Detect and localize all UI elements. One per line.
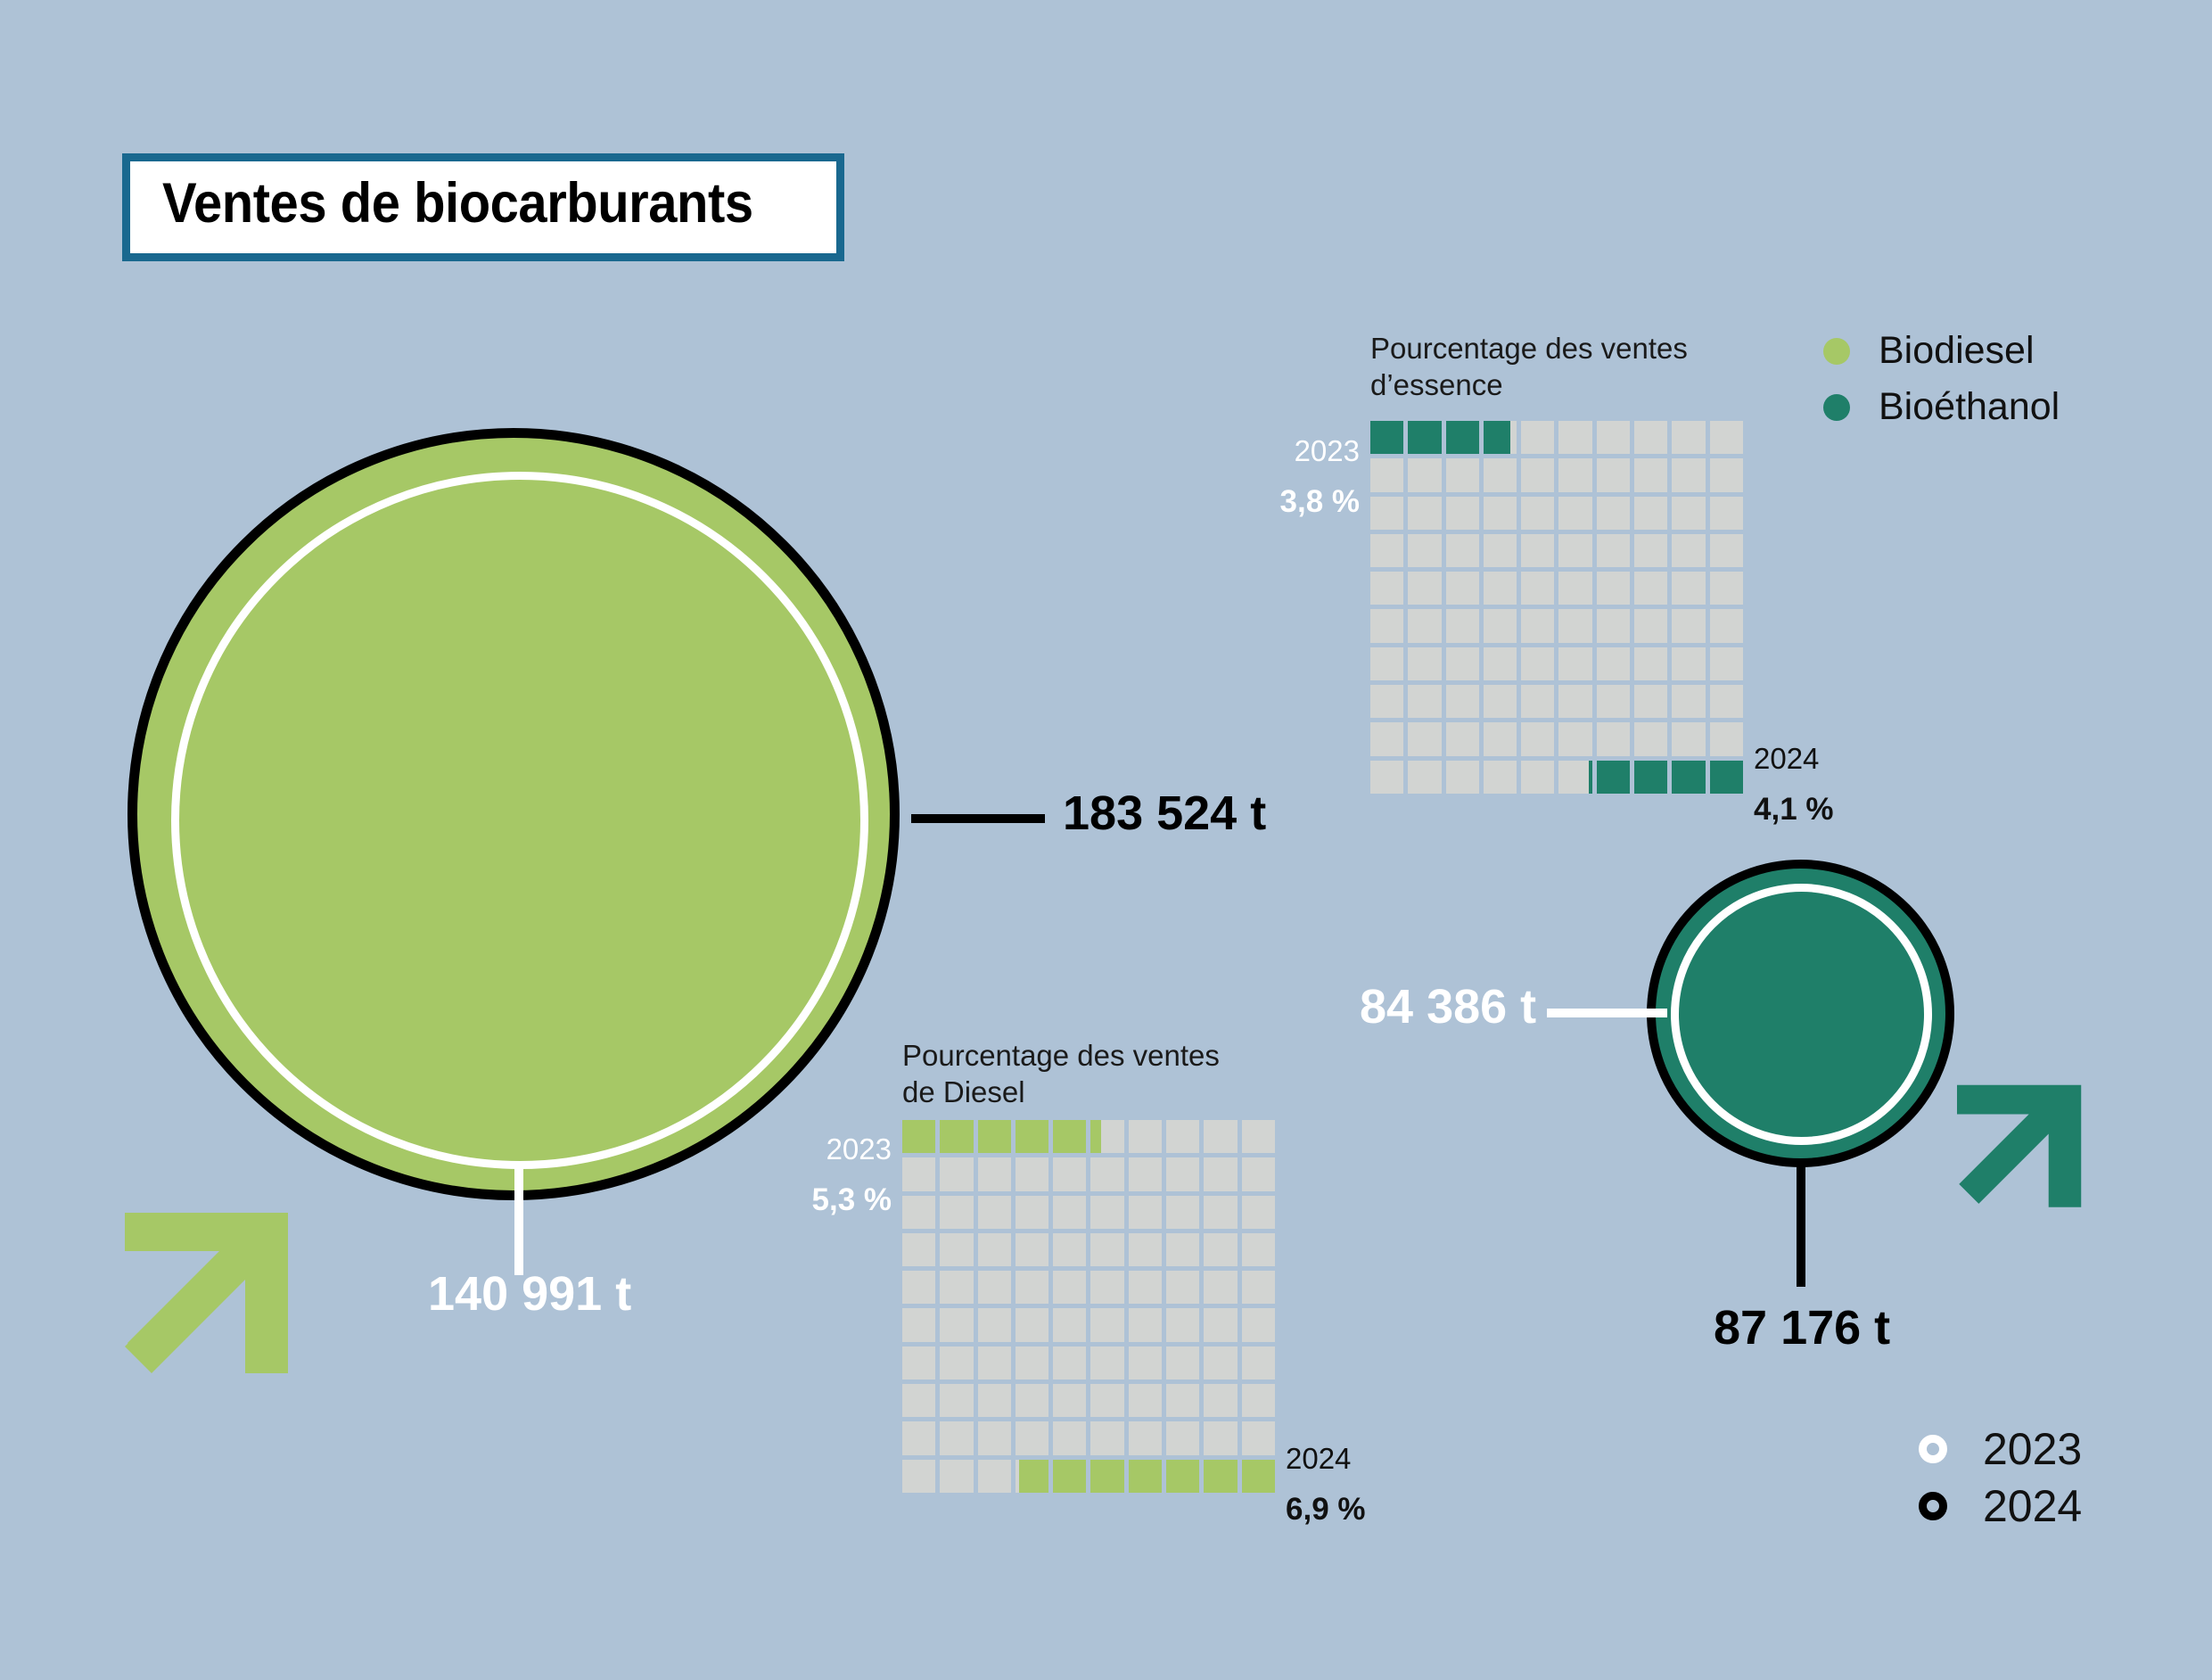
waffle-cell (1710, 572, 1743, 605)
waffle-cell (1597, 609, 1630, 642)
waffle-cell (1129, 1157, 1162, 1190)
waffle-cell (978, 1308, 1011, 1341)
waffle-cell (1597, 685, 1630, 718)
waffle-cell (1710, 647, 1743, 680)
waffle-cell (1558, 458, 1591, 491)
waffle-cell (1558, 761, 1591, 794)
essence-2024-year: 2024 (1754, 743, 1932, 776)
waffle-cell (978, 1120, 1011, 1153)
waffle-cell (940, 1233, 973, 1266)
waffle-cell (940, 1308, 973, 1341)
waffle-cell (1408, 534, 1441, 567)
waffle-cell (1204, 1384, 1237, 1417)
waffle-fill-2023 (940, 1120, 973, 1153)
waffle-cell (1521, 609, 1554, 642)
waffle-cell (1634, 572, 1667, 605)
waffle-cell (1166, 1196, 1199, 1229)
waffle-cell (1166, 1157, 1199, 1190)
waffle-cell (1597, 534, 1630, 567)
waffle-cell (1521, 761, 1554, 794)
waffle-cell (1634, 722, 1667, 755)
waffle-cell (1242, 1157, 1275, 1190)
waffle-cell (902, 1384, 935, 1417)
waffle-cell (1672, 534, 1705, 567)
waffle-fill-2023 (1408, 421, 1441, 454)
waffle-cell (1672, 609, 1705, 642)
waffle-cell (1204, 1460, 1237, 1493)
waffle-cell (1090, 1308, 1123, 1341)
waffle-cell (1204, 1196, 1237, 1229)
waffle-cell (1484, 647, 1517, 680)
waffle-cell (1408, 609, 1441, 642)
waffle-cell (902, 1271, 935, 1304)
waffle-cell (1597, 497, 1630, 530)
waffle-cell (1166, 1346, 1199, 1379)
series-legend: Biodiesel Bioéthanol (1823, 332, 2060, 444)
waffle-fill-2024 (1710, 761, 1743, 794)
waffle-cell (940, 1196, 973, 1229)
ring-2023-icon (1919, 1435, 1947, 1463)
waffle-cell (978, 1460, 1011, 1493)
biodiesel-circle-2024 (127, 428, 900, 1200)
waffle-fill-2023 (978, 1120, 1011, 1153)
waffle-cell (1204, 1157, 1237, 1190)
legend-label-biodiesel: Biodiesel (1879, 332, 2035, 370)
waffle-cell (1558, 572, 1591, 605)
waffle-cell (1166, 1120, 1199, 1153)
waffle-cell (1484, 497, 1517, 530)
waffle-cell (1710, 421, 1743, 454)
essence-2023-percent: 3,8 % (1228, 484, 1360, 519)
waffle-cell (1408, 572, 1441, 605)
legend-item-year-2024: 2024 (1919, 1484, 2082, 1528)
waffle-cell (1521, 722, 1554, 755)
waffle-cell (1090, 1346, 1123, 1379)
essence-waffle-caption: Pourcentage des ventes d’essence (1370, 330, 1718, 404)
waffle-cell (1634, 497, 1667, 530)
waffle-cell (940, 1271, 973, 1304)
waffle-cell (1408, 722, 1441, 755)
biodiesel-dot-icon (1823, 338, 1850, 365)
waffle-cell (1370, 534, 1403, 567)
waffle-cell (978, 1384, 1011, 1417)
waffle-cell (1053, 1308, 1086, 1341)
waffle-cell (1521, 497, 1554, 530)
waffle-cell (1558, 421, 1591, 454)
waffle-cell (1090, 1120, 1123, 1153)
waffle-cell (940, 1157, 973, 1190)
waffle-cell (1408, 761, 1441, 794)
waffle-cell (1053, 1233, 1086, 1266)
waffle-cell (1129, 1460, 1162, 1493)
waffle-cell (902, 1346, 935, 1379)
waffle-cell (1204, 1271, 1237, 1304)
waffle-cell (1446, 647, 1479, 680)
waffle-cell (1242, 1271, 1275, 1304)
waffle-fill-2024 (1166, 1460, 1199, 1493)
waffle-cell (1710, 609, 1743, 642)
waffle-cell (1672, 421, 1705, 454)
diesel-waffle-caption: Pourcentage des ventes de Diesel (902, 1037, 1250, 1111)
waffle-cell (978, 1233, 1011, 1266)
waffle-cell (1558, 722, 1591, 755)
waffle-cell (1446, 609, 1479, 642)
waffle-fill-2023 (1016, 1120, 1048, 1153)
waffle-cell (1634, 458, 1667, 491)
waffle-cell (1484, 761, 1517, 794)
waffle-cell (1090, 1157, 1123, 1190)
waffle-cell (1129, 1346, 1162, 1379)
waffle-cell (1129, 1233, 1162, 1266)
waffle-fill-2024 (1634, 761, 1667, 794)
waffle-fill-2024 (1672, 761, 1705, 794)
waffle-cell (902, 1233, 935, 1266)
waffle-cell (1204, 1421, 1237, 1454)
page-title: Ventes de biocarburants (162, 176, 753, 232)
waffle-cell (1090, 1384, 1123, 1417)
waffle-cell (1370, 497, 1403, 530)
waffle-cell (1710, 761, 1743, 794)
ring-2024-icon (1919, 1492, 1947, 1520)
waffle-cell (1484, 458, 1517, 491)
waffle-cell (1242, 1384, 1275, 1417)
biodiesel-value-2024: 183 524 t (1063, 789, 1266, 837)
waffle-cell (1597, 761, 1630, 794)
waffle-cell (1521, 647, 1554, 680)
waffle-cell (1558, 685, 1591, 718)
waffle-fill-2023 (1053, 1120, 1086, 1153)
waffle-cell (1446, 497, 1479, 530)
waffle-fill-2024 (1019, 1460, 1049, 1493)
waffle-cell (902, 1120, 935, 1153)
waffle-cell (1558, 534, 1591, 567)
waffle-cell (1408, 458, 1441, 491)
bioethanol-leader-line-2024 (1797, 1165, 1805, 1287)
diesel-2023-year: 2023 (760, 1133, 892, 1166)
waffle-cell (1634, 534, 1667, 567)
bioethanol-leader-line-2023 (1547, 1009, 1667, 1017)
waffle-cell (1242, 1233, 1275, 1266)
waffle-cell (1166, 1271, 1199, 1304)
waffle-cell (1090, 1421, 1123, 1454)
waffle-cell (1166, 1384, 1199, 1417)
waffle-cell (1129, 1308, 1162, 1341)
waffle-cell (902, 1460, 935, 1493)
waffle-cell (1053, 1384, 1086, 1417)
waffle-cell (1129, 1120, 1162, 1153)
waffle-cell (1016, 1308, 1048, 1341)
waffle-cell (1408, 685, 1441, 718)
waffle-cell (1634, 761, 1667, 794)
biodiesel-leader-line-2023 (514, 1168, 523, 1275)
waffle-cell (1016, 1346, 1048, 1379)
waffle-fill-2024 (1053, 1460, 1086, 1493)
waffle-cell (1558, 647, 1591, 680)
diesel-label-2023: 2023 5,3 % (760, 1117, 892, 1233)
waffle-cell (1484, 534, 1517, 567)
waffle-cell (940, 1384, 973, 1417)
waffle-cell (902, 1196, 935, 1229)
bioethanol-value-2023: 84 386 t (1360, 983, 1536, 1031)
waffle-cell (1634, 609, 1667, 642)
waffle-cell (1370, 685, 1403, 718)
waffle-cell (1484, 609, 1517, 642)
legend-label-2023: 2023 (1983, 1427, 2082, 1471)
waffle-cell (1558, 609, 1591, 642)
waffle-cell (1242, 1460, 1275, 1493)
year-legend: 2023 2024 (1919, 1427, 2082, 1541)
up-right-arrow-icon-biodiesel (125, 1177, 330, 1373)
waffle-cell (1016, 1421, 1048, 1454)
legend-item-bioethanol: Bioéthanol (1823, 388, 2060, 426)
waffle-cell (1484, 685, 1517, 718)
waffle-cell (1408, 497, 1441, 530)
waffle-cell (1597, 722, 1630, 755)
waffle-cell (1053, 1346, 1086, 1379)
waffle-cell (1053, 1157, 1086, 1190)
waffle-cell (1634, 647, 1667, 680)
waffle-cell (1053, 1460, 1086, 1493)
waffle-cell (1016, 1384, 1048, 1417)
essence-2023-year: 2023 (1228, 435, 1360, 468)
waffle-cell (1053, 1271, 1086, 1304)
waffle-cell (1016, 1233, 1048, 1266)
waffle-cell (902, 1421, 935, 1454)
biodiesel-value-2023: 140 991 t (428, 1270, 631, 1318)
waffle-cell (1016, 1157, 1048, 1190)
waffle-cell (1634, 421, 1667, 454)
waffle-cell (1016, 1120, 1048, 1153)
waffle-cell (940, 1346, 973, 1379)
up-right-arrow-icon-bioethanol (1957, 1057, 2113, 1208)
waffle-cell (1672, 572, 1705, 605)
waffle-cell (1558, 497, 1591, 530)
waffle-cell (1597, 572, 1630, 605)
waffle-fill-2024 (1597, 761, 1630, 794)
waffle-cell (978, 1346, 1011, 1379)
waffle-cell (1053, 1120, 1086, 1153)
waffle-cell (1634, 685, 1667, 718)
waffle-cell (1204, 1233, 1237, 1266)
waffle-cell (1484, 421, 1517, 454)
waffle-cell (1242, 1120, 1275, 1153)
waffle-cell (902, 1308, 935, 1341)
waffle-fill-2023 (1370, 421, 1403, 454)
bioethanol-dot-icon (1823, 394, 1850, 421)
waffle-cell (1597, 421, 1630, 454)
diesel-2024-percent: 6,9 % (1286, 1492, 1464, 1527)
waffle-cell (1129, 1271, 1162, 1304)
waffle-cell (1710, 685, 1743, 718)
waffle-cell (1090, 1196, 1123, 1229)
waffle-cell (1672, 722, 1705, 755)
waffle-cell (1129, 1196, 1162, 1229)
title-box: Ventes de biocarburants (122, 153, 844, 261)
diesel-2023-percent: 5,3 % (760, 1182, 892, 1217)
waffle-cell (1370, 609, 1403, 642)
waffle-cell (978, 1421, 1011, 1454)
essence-2024-percent: 4,1 % (1754, 792, 1932, 827)
waffle-cell (1710, 534, 1743, 567)
waffle-cell (1242, 1346, 1275, 1379)
waffle-cell (1129, 1384, 1162, 1417)
waffle-cell (1597, 458, 1630, 491)
waffle-cell (1521, 534, 1554, 567)
waffle-cell (1242, 1308, 1275, 1341)
waffle-cell (1053, 1196, 1086, 1229)
waffle-cell (1672, 647, 1705, 680)
waffle-fill-2024 (1589, 761, 1592, 794)
legend-item-year-2023: 2023 (1919, 1427, 2082, 1471)
bioethanol-circle-2023 (1671, 884, 1932, 1145)
waffle-cell (1370, 458, 1403, 491)
waffle-fill-2023 (1484, 421, 1510, 454)
waffle-cell (978, 1157, 1011, 1190)
waffle-cell (1521, 421, 1554, 454)
waffle-fill-2024 (1129, 1460, 1162, 1493)
waffle-cell (1166, 1233, 1199, 1266)
waffle-cell (1408, 421, 1441, 454)
waffle-cell (1710, 497, 1743, 530)
infographic-canvas: Ventes de biocarburants 183 524 t 140 99… (0, 0, 2212, 1680)
waffle-fill-2024 (1204, 1460, 1237, 1493)
waffle-fill-2024 (1090, 1460, 1123, 1493)
waffle-cell (1672, 685, 1705, 718)
bioethanol-circle-2024 (1647, 860, 1954, 1167)
waffle-cell (1370, 572, 1403, 605)
waffle-cell (1446, 572, 1479, 605)
waffle-cell (1090, 1460, 1123, 1493)
waffle-cell (1446, 458, 1479, 491)
essence-label-2023: 2023 3,8 % (1228, 419, 1360, 535)
waffle-cell (1370, 722, 1403, 755)
biodiesel-leader-line-2024 (911, 814, 1045, 823)
waffle-cell (1242, 1421, 1275, 1454)
waffle-cell (1090, 1271, 1123, 1304)
waffle-cell (1446, 761, 1479, 794)
waffle-fill-2023 (1446, 421, 1479, 454)
waffle-cell (1710, 458, 1743, 491)
waffle-cell (1484, 572, 1517, 605)
waffle-cell (1016, 1460, 1048, 1493)
waffle-cell (1370, 761, 1403, 794)
essence-waffle-grid (1370, 421, 1743, 794)
waffle-cell (1446, 722, 1479, 755)
essence-label-2024: 2024 4,1 % (1754, 727, 1932, 843)
waffle-fill-2023 (1090, 1120, 1100, 1153)
waffle-cell (1166, 1421, 1199, 1454)
waffle-cell (1090, 1233, 1123, 1266)
waffle-cell (1521, 685, 1554, 718)
legend-item-biodiesel: Biodiesel (1823, 332, 2060, 370)
waffle-cell (978, 1271, 1011, 1304)
waffle-cell (1016, 1196, 1048, 1229)
waffle-cell (1672, 458, 1705, 491)
waffle-cell (1408, 647, 1441, 680)
waffle-cell (1204, 1120, 1237, 1153)
waffle-cell (902, 1157, 935, 1190)
waffle-cell (1597, 647, 1630, 680)
waffle-cell (1166, 1308, 1199, 1341)
waffle-cell (1446, 534, 1479, 567)
waffle-cell (1204, 1346, 1237, 1379)
bioethanol-value-2024: 87 176 t (1714, 1304, 1890, 1352)
waffle-cell (1053, 1421, 1086, 1454)
waffle-cell (1370, 647, 1403, 680)
waffle-cell (1521, 572, 1554, 605)
waffle-cell (1484, 722, 1517, 755)
waffle-cell (1446, 421, 1479, 454)
waffle-cell (1166, 1460, 1199, 1493)
waffle-cell (1672, 497, 1705, 530)
waffle-cell (1204, 1308, 1237, 1341)
diesel-label-2024: 2024 6,9 % (1286, 1427, 1464, 1543)
waffle-cell (978, 1196, 1011, 1229)
biodiesel-circle-2023 (171, 472, 868, 1169)
waffle-fill-2024 (1242, 1460, 1275, 1493)
waffle-cell (1016, 1271, 1048, 1304)
waffle-cell (1446, 685, 1479, 718)
waffle-cell (1129, 1421, 1162, 1454)
waffle-fill-2023 (902, 1120, 935, 1153)
waffle-cell (940, 1460, 973, 1493)
waffle-cell (1672, 761, 1705, 794)
waffle-cell (940, 1421, 973, 1454)
diesel-waffle-grid (902, 1120, 1275, 1493)
waffle-cell (1370, 421, 1403, 454)
waffle-cell (1242, 1196, 1275, 1229)
waffle-cell (940, 1120, 973, 1153)
waffle-cell (1710, 722, 1743, 755)
legend-label-2024: 2024 (1983, 1484, 2082, 1528)
legend-label-bioethanol: Bioéthanol (1879, 388, 2060, 426)
waffle-cell (1521, 458, 1554, 491)
diesel-2024-year: 2024 (1286, 1443, 1464, 1476)
